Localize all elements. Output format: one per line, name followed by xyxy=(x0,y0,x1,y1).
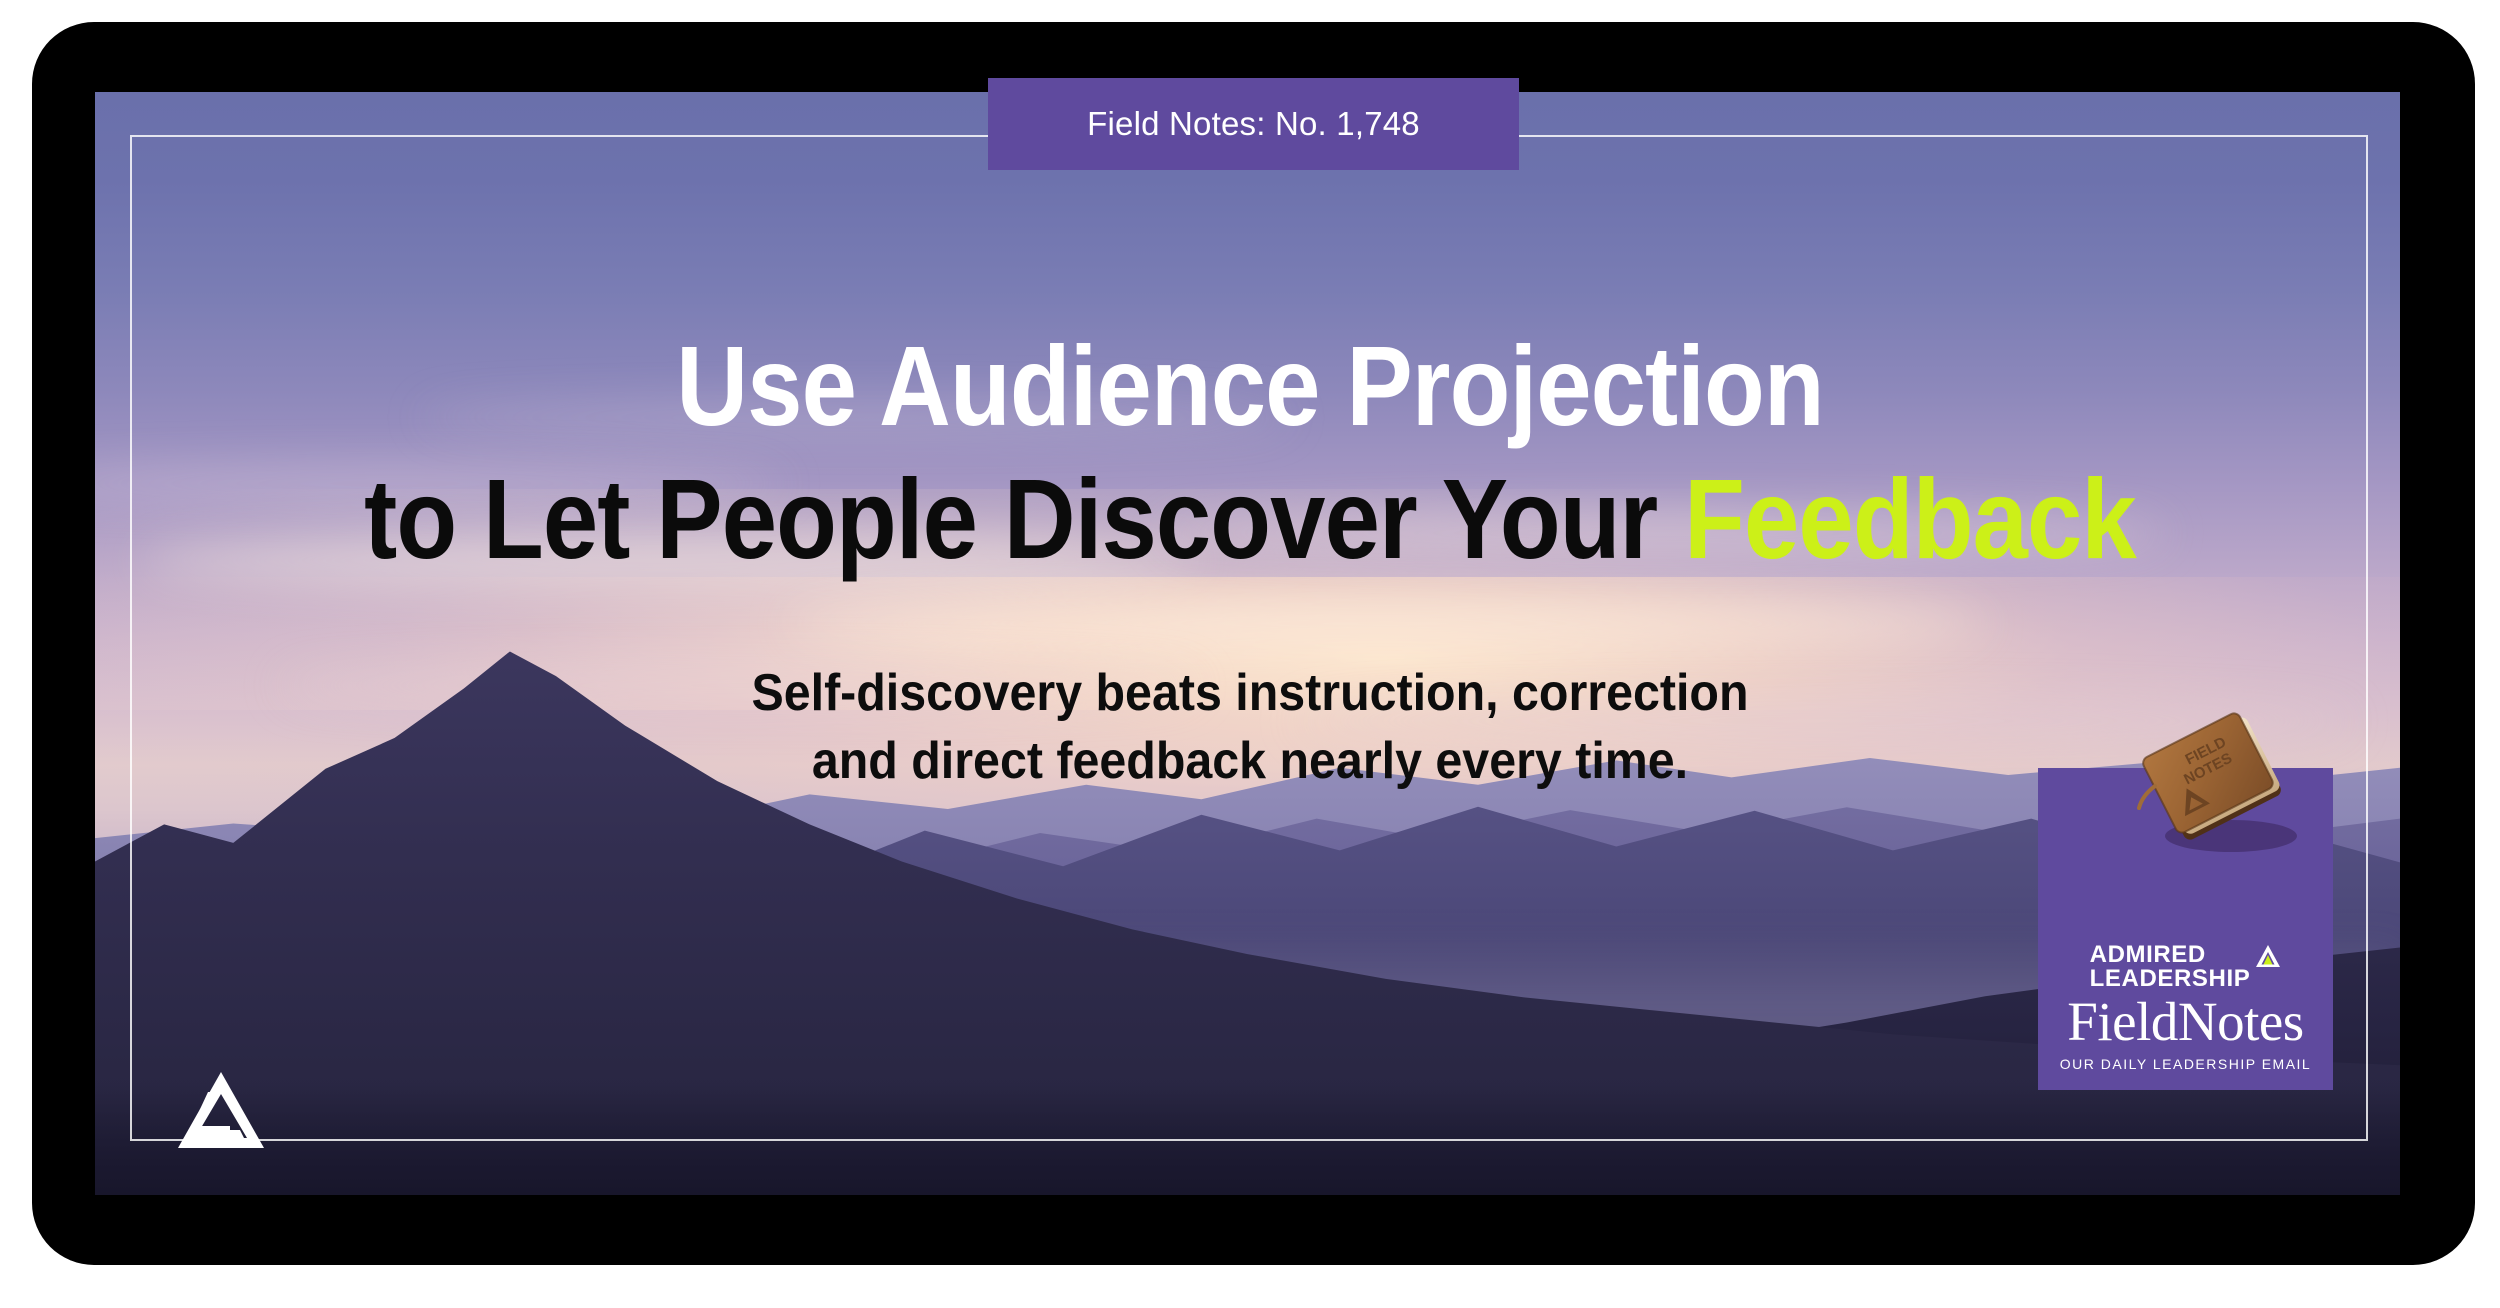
headline-line-2-text: to Let People Discover Your xyxy=(364,456,1657,582)
brand-name: ADMIRED LEADERSHIP xyxy=(2090,943,2251,990)
headline-block: Use Audience Projection to Let People Di… xyxy=(0,330,2500,576)
headline-line-2: to Let People Discover Your Feedback xyxy=(150,463,2350,576)
leather-notebook-icon: FIELD NOTES xyxy=(2135,712,2315,857)
brand-line-2: LEADERSHIP xyxy=(2090,967,2251,990)
screenshot-stage: Field Notes: No. 1,748 Use Audience Proj… xyxy=(0,0,2500,1308)
promo-card-text: ADMIRED LEADERSHIP FieldNotes OUR DAILY … xyxy=(2038,943,2333,1072)
subtitle-line-1: Self-discovery beats instruction, correc… xyxy=(88,660,2413,728)
brand-line-1: ADMIRED xyxy=(2090,943,2251,966)
promo-tagline: OUR DAILY LEADERSHIP EMAIL xyxy=(2038,1056,2333,1072)
headline-line-1: Use Audience Projection xyxy=(150,330,2350,443)
notebook-strap xyxy=(2139,786,2155,808)
triangle-logo-icon xyxy=(2255,944,2281,968)
issue-number-label: Field Notes: No. 1,748 xyxy=(1087,105,1420,143)
admired-leadership-logo-watermark xyxy=(168,1070,274,1162)
product-name: FieldNotes xyxy=(2038,993,2333,1050)
triangle-monogram-icon xyxy=(168,1070,274,1162)
field-notes-notebook-illustration: FIELD NOTES xyxy=(2135,712,2315,857)
headline-accent-word: Feedback xyxy=(1684,456,2136,582)
brand-lockup: ADMIRED LEADERSHIP xyxy=(2038,943,2333,990)
issue-number-badge: Field Notes: No. 1,748 xyxy=(988,78,1519,170)
foreground-shadow xyxy=(95,1085,2400,1195)
